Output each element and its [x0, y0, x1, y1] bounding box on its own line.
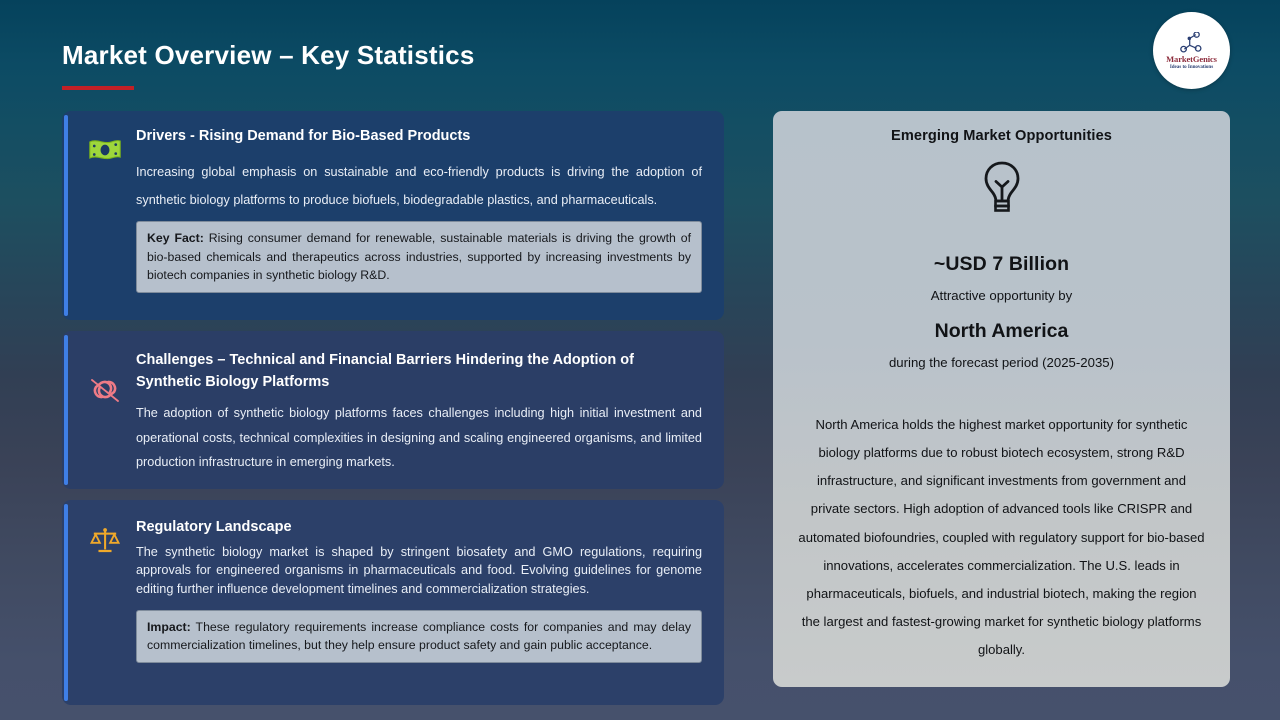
card-title: Drivers - Rising Demand for Bio-Based Pr…: [136, 125, 702, 147]
title-underline-rule: [62, 86, 134, 90]
card-regulatory-landscape[interactable]: Regulatory Landscape The synthetic biolo…: [62, 500, 724, 705]
card-body-text: Increasing global emphasis on sustainabl…: [136, 159, 702, 215]
callout-text: Rising consumer demand for renewable, su…: [147, 231, 691, 281]
scales-balance-icon: [86, 522, 124, 560]
card-accent-bar: [64, 504, 68, 701]
card-drivers[interactable]: Drivers - Rising Demand for Bio-Based Pr…: [62, 111, 724, 320]
card-body-text: The adoption of synthetic biology platfo…: [136, 401, 702, 475]
emerging-opportunities-panel: Emerging Market Opportunities ~USD 7 Bil…: [773, 111, 1230, 687]
insight-card-list: Drivers - Rising Demand for Bio-Based Pr…: [62, 111, 724, 716]
key-fact-callout: Key Fact: Rising consumer demand for ren…: [136, 221, 702, 293]
logo-name: MarketGenics: [1166, 55, 1217, 64]
brand-logo: MarketGenics Ideas to Innovations: [1153, 12, 1230, 89]
card-accent-bar: [64, 115, 68, 316]
card-title: Regulatory Landscape: [136, 516, 702, 538]
card-challenges[interactable]: Challenges – Technical and Financial Bar…: [62, 331, 724, 489]
region-value: North America: [793, 320, 1210, 343]
stat-label: Attractive opportunity by: [793, 288, 1210, 303]
stat-value: ~USD 7 Billion: [793, 253, 1210, 276]
molecule-node-icon: [1179, 32, 1205, 54]
page-title: Market Overview – Key Statistics: [62, 40, 475, 71]
card-body-text: The synthetic biology market is shaped b…: [136, 543, 702, 598]
broken-link-icon: [86, 371, 124, 409]
impact-callout: Impact: These regulatory requirements in…: [136, 610, 702, 663]
callout-label: Impact:: [147, 620, 191, 634]
card-accent-bar: [64, 335, 68, 485]
logo-tagline: Ideas to Innovations: [1170, 65, 1213, 70]
panel-description: North America holds the highest market o…: [793, 411, 1210, 664]
panel-title: Emerging Market Opportunities: [793, 128, 1210, 144]
callout-text: These regulatory requirements increase c…: [147, 620, 691, 652]
callout-label: Key Fact:: [147, 231, 204, 245]
card-title: Challenges – Technical and Financial Bar…: [136, 349, 702, 394]
lightbulb-icon: [793, 160, 1210, 216]
money-banknote-icon: [86, 131, 124, 169]
region-label: during the forecast period (2025-2035): [793, 355, 1210, 370]
